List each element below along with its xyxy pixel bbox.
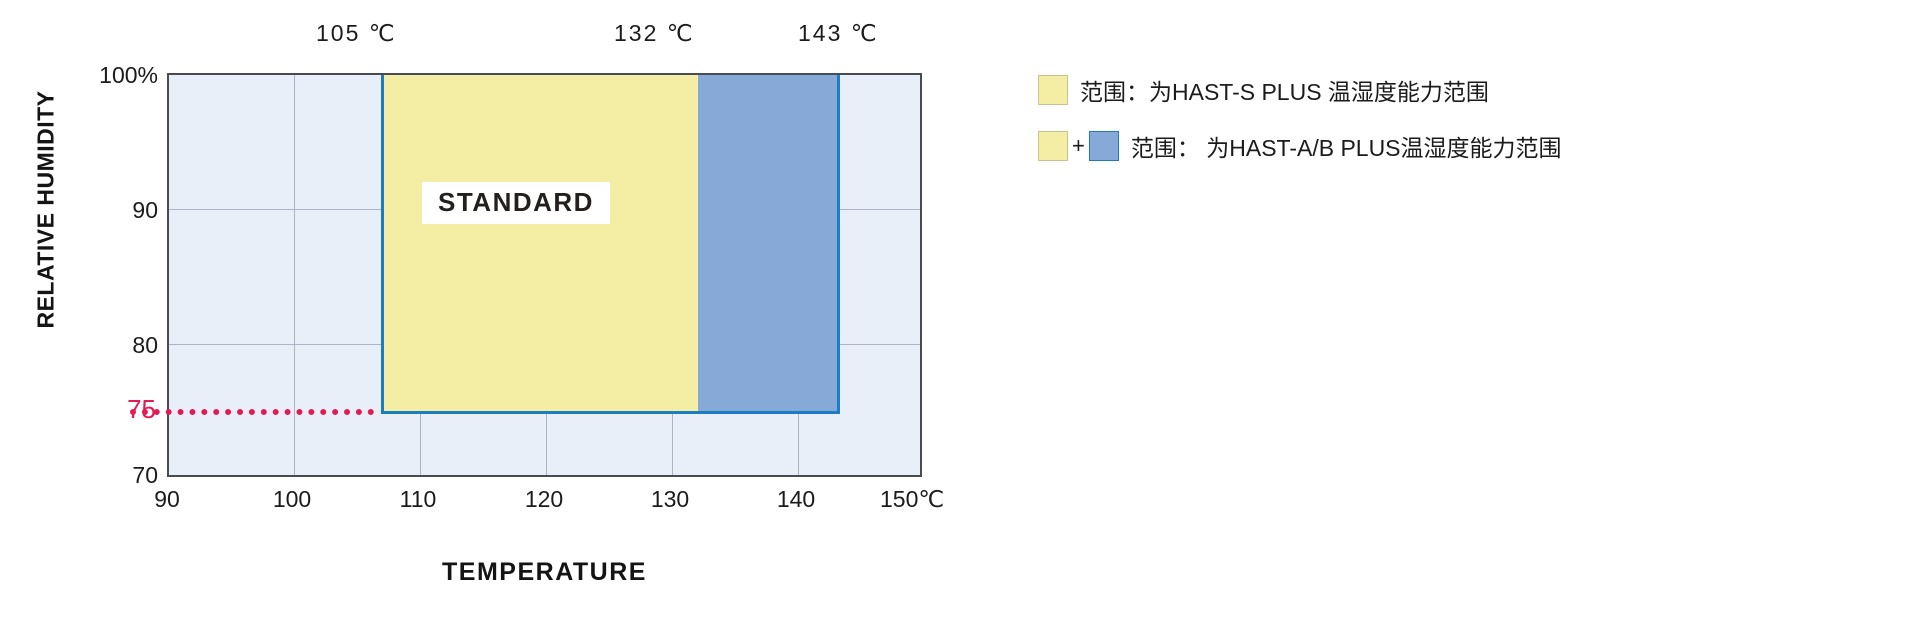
y-tick-label-90: 90 <box>36 197 158 224</box>
top-callout-132: 132 ℃ <box>614 20 695 47</box>
x-tick-label-100: 100 <box>252 486 332 513</box>
temperature-humidity-chart: 105 ℃ 132 ℃ 143 ℃ RELATIVE HUMIDITY 100%… <box>0 0 1000 628</box>
x-axis-end-label: 150℃ <box>880 486 944 513</box>
y-tick-label-70: 70 <box>36 462 158 489</box>
region-hast-ab-plus <box>698 75 837 411</box>
standard-annotation: STANDARD <box>422 182 610 224</box>
legend-item-hast-s-plus: 范围：为HAST-S PLUS 温湿度能力范围 <box>1038 68 1878 112</box>
legend-label-hast-ab-plus: 范围： 为HAST-A/B PLUS温湿度能力范围 <box>1131 129 1562 163</box>
y-tick-label-100: 100% <box>36 62 158 89</box>
top-callout-labels: 105 ℃ 132 ℃ 143 ℃ <box>0 0 1000 60</box>
legend-plus-symbol: + <box>1072 135 1085 157</box>
y-tick-label-80: 80 <box>36 332 158 359</box>
legend-swatch-blue <box>1089 131 1119 161</box>
region-hast-s-plus <box>383 75 698 411</box>
legend-swatch-yellow-2 <box>1038 131 1068 161</box>
chart-legend: 范围：为HAST-S PLUS 温湿度能力范围 + 范围： 为HAST-A/B … <box>1038 68 1878 180</box>
plot-inner: STANDARD <box>169 75 920 475</box>
top-callout-143: 143 ℃ <box>798 20 879 47</box>
legend-swatch-yellow <box>1038 75 1068 105</box>
x-tick-label-140: 140 <box>756 486 836 513</box>
top-callout-105: 105 ℃ <box>316 20 397 47</box>
x-tick-label-120: 120 <box>504 486 584 513</box>
legend-item-hast-ab-plus: + 范围： 为HAST-A/B PLUS温湿度能力范围 <box>1038 124 1878 168</box>
plot-area: STANDARD <box>167 73 922 477</box>
chart-page: 105 ℃ 132 ℃ 143 ℃ RELATIVE HUMIDITY 100%… <box>0 0 1920 628</box>
x-tick-label-110: 110 <box>378 486 458 513</box>
gridline-v-100 <box>294 75 295 475</box>
legend-label-hast-s-plus: 范围：为HAST-S PLUS 温湿度能力范围 <box>1080 73 1489 107</box>
x-tick-label-90: 90 <box>127 486 207 513</box>
reference-line-75 <box>130 409 374 415</box>
x-tick-label-130: 130 <box>630 486 710 513</box>
x-axis-title: TEMPERATURE <box>167 558 922 587</box>
